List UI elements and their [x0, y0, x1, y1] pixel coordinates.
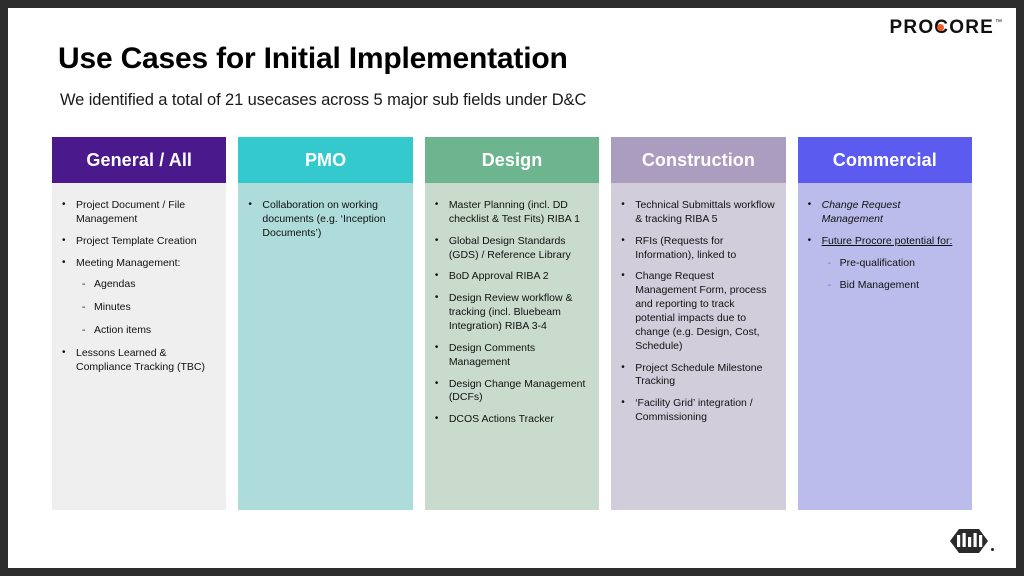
- list-item: Change Request Management: [806, 199, 962, 227]
- column-body-design: Master Planning (incl. DD checklist & Te…: [425, 183, 599, 510]
- list-item-label: Future Procore potential for:: [822, 235, 953, 247]
- column-design: DesignMaster Planning (incl. DD checklis…: [425, 137, 599, 510]
- list-item-label: Collaboration on working documents (e.g.…: [262, 199, 385, 239]
- usecase-columns: General / AllProject Document / File Man…: [52, 137, 972, 510]
- column-title-construction: Construction: [642, 150, 755, 171]
- procore-wordmark: PROCORE: [890, 18, 994, 37]
- column-header-construction[interactable]: Construction: [611, 137, 785, 183]
- list-item-label: ‘Facility Grid’ integration / Commission…: [635, 397, 752, 423]
- page-subtitle: We identified a total of 21 usecases acr…: [60, 91, 586, 110]
- list-item-label: RFIs (Requests for Information), linked …: [635, 235, 736, 261]
- list-item: BoD Approval RIBA 2: [433, 270, 589, 284]
- bullet-list-commercial: Change Request ManagementFuture Procore …: [806, 199, 962, 293]
- list-item-label: Meeting Management:: [76, 257, 180, 269]
- list-item-label: Project Document / File Management: [76, 199, 185, 225]
- list-item: Project Template Creation: [60, 235, 216, 249]
- list-item-label: Project Schedule Milestone Tracking: [635, 362, 762, 388]
- column-title-design: Design: [482, 150, 543, 171]
- list-item-label: Action items: [94, 324, 151, 336]
- list-item: DCOS Actions Tracker: [433, 413, 589, 427]
- list-item: Project Document / File Management: [60, 199, 216, 227]
- list-item: ‘Facility Grid’ integration / Commission…: [619, 397, 775, 425]
- list-item-label: BoD Approval RIBA 2: [449, 270, 549, 282]
- list-item: Design Review workflow & tracking (incl.…: [433, 292, 589, 334]
- list-item: Agendas: [60, 278, 216, 292]
- column-title-pmo: PMO: [305, 150, 346, 171]
- list-item-label: Lessons Learned & Compliance Tracking (T…: [76, 347, 205, 373]
- list-item-label: Design Change Management (DCFs): [449, 378, 586, 404]
- bullet-list-design: Master Planning (incl. DD checklist & Te…: [433, 199, 589, 427]
- column-body-pmo: Collaboration on working documents (e.g.…: [238, 183, 412, 510]
- column-title-commercial: Commercial: [833, 150, 937, 171]
- footer-logo-dot-icon: [991, 548, 994, 551]
- list-item[interactable]: Future Procore potential for:: [806, 235, 962, 249]
- hexagon-bars-icon: [949, 528, 989, 554]
- list-item-label: Global Design Standards (GDS) / Referenc…: [449, 235, 571, 261]
- list-item-label: Technical Submittals workflow & tracking…: [635, 199, 774, 225]
- bullet-list-pmo: Collaboration on working documents (e.g.…: [246, 199, 402, 241]
- list-item-label: Minutes: [94, 301, 131, 313]
- list-item-label: Change Request Management: [822, 199, 901, 225]
- list-item: Master Planning (incl. DD checklist & Te…: [433, 199, 589, 227]
- column-body-commercial: Change Request ManagementFuture Procore …: [798, 183, 972, 510]
- list-item-label: DCOS Actions Tracker: [449, 413, 554, 425]
- bullet-list-general-all: Project Document / File ManagementProjec…: [60, 199, 216, 375]
- list-item-label: Design Comments Management: [449, 342, 535, 368]
- list-item: Collaboration on working documents (e.g.…: [246, 199, 402, 241]
- column-header-commercial[interactable]: Commercial: [798, 137, 972, 183]
- list-item-label: Agendas: [94, 278, 135, 290]
- procore-orange-dot-icon: [937, 24, 944, 31]
- list-item: Design Comments Management: [433, 342, 589, 370]
- procore-logo: PROCORE ™: [890, 18, 1002, 37]
- column-construction: ConstructionTechnical Submittals workflo…: [611, 137, 785, 510]
- list-item-label: Master Planning (incl. DD checklist & Te…: [449, 199, 580, 225]
- column-body-general-all: Project Document / File ManagementProjec…: [52, 183, 226, 510]
- list-item-label: Design Review workflow & tracking (incl.…: [449, 292, 573, 332]
- page-title: Use Cases for Initial Implementation: [58, 42, 568, 76]
- list-item: Project Schedule Milestone Tracking: [619, 362, 775, 390]
- footer-hexagon-bars-logo: [949, 528, 994, 554]
- slide-canvas: PROCORE ™ Use Cases for Initial Implemen…: [8, 8, 1016, 568]
- column-title-general-all: General / All: [86, 150, 192, 171]
- list-item-label: Project Template Creation: [76, 235, 197, 247]
- list-item-label: Pre-qualification: [840, 257, 915, 269]
- bullet-list-construction: Technical Submittals workflow & tracking…: [619, 199, 775, 425]
- procore-trademark-symbol: ™: [995, 19, 1002, 26]
- column-commercial: CommercialChange Request ManagementFutur…: [798, 137, 972, 510]
- list-item: Lessons Learned & Compliance Tracking (T…: [60, 347, 216, 375]
- list-item: Change Request Management Form, process …: [619, 270, 775, 353]
- column-header-design[interactable]: Design: [425, 137, 599, 183]
- list-item[interactable]: Bid Management: [806, 279, 962, 293]
- column-header-general-all[interactable]: General / All: [52, 137, 226, 183]
- column-header-pmo[interactable]: PMO: [238, 137, 412, 183]
- list-item: RFIs (Requests for Information), linked …: [619, 235, 775, 263]
- column-pmo: PMOCollaboration on working documents (e…: [238, 137, 412, 510]
- list-item: Global Design Standards (GDS) / Referenc…: [433, 235, 589, 263]
- list-item[interactable]: Pre-qualification: [806, 257, 962, 271]
- list-item: Action items: [60, 324, 216, 338]
- list-item: Design Change Management (DCFs): [433, 378, 589, 406]
- column-general-all: General / AllProject Document / File Man…: [52, 137, 226, 510]
- list-item: Meeting Management:: [60, 257, 216, 271]
- list-item: Minutes: [60, 301, 216, 315]
- column-body-construction: Technical Submittals workflow & tracking…: [611, 183, 785, 510]
- list-item-label: Change Request Management Form, process …: [635, 270, 766, 351]
- list-item-label: Bid Management: [840, 279, 919, 291]
- list-item: Technical Submittals workflow & tracking…: [619, 199, 775, 227]
